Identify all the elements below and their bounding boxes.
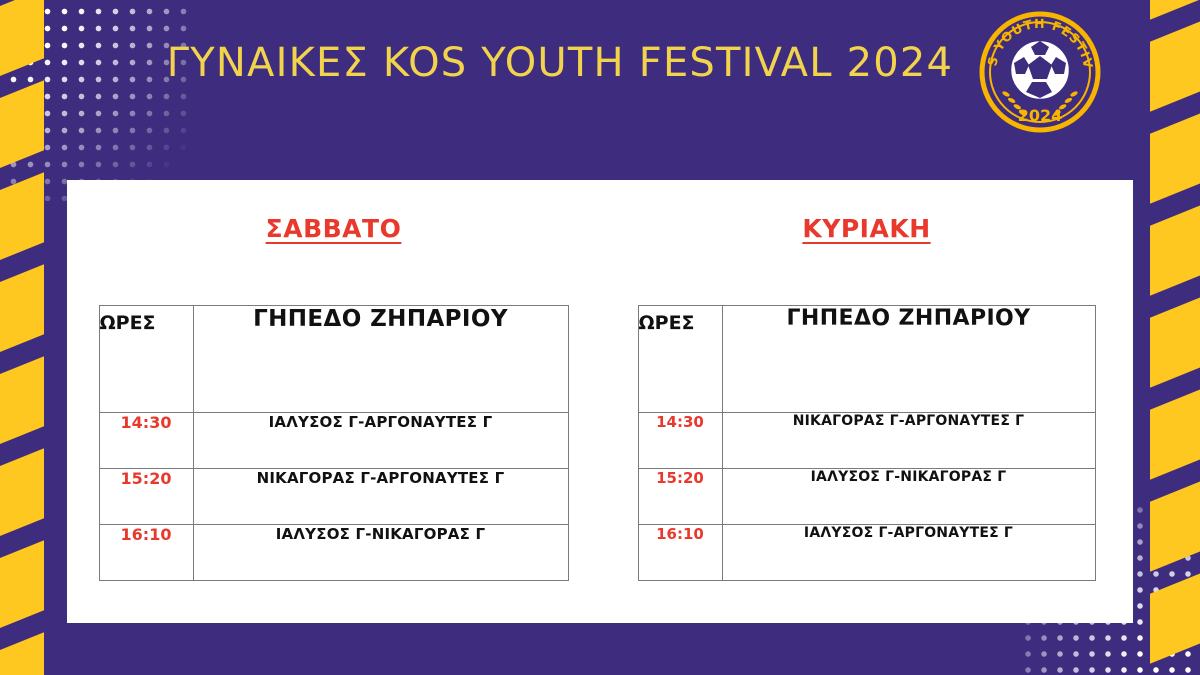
table-header-row: ΩΡΕΣ ΓΗΠΕΔΟ ΖΗΠΑΡΙΟΥ <box>638 306 1095 413</box>
match-time: 15:20 <box>99 469 193 525</box>
column-header-venue: ΓΗΠΕΔΟ ΖΗΠΑΡΙΟΥ <box>193 306 568 413</box>
header: ΓΥΝΑΙΚΕΣ KOS YOUTH FESTIVAL 2024 KOS YOU… <box>0 0 1200 176</box>
stripe <box>0 264 44 366</box>
match-teams: ΙΑΛΥΣΟΣ Γ-ΑΡΓΟΝΑΥΤΕΣ Γ <box>193 413 568 469</box>
day-heading-sunday: ΚΥΡΙΑΚΗ <box>600 214 1133 243</box>
match-time: 14:30 <box>99 413 193 469</box>
schedule-column-sunday: ΚΥΡΙΑΚΗ ΩΡΕΣ ΓΗΠΕΔΟ ΖΗΠΑΡΙΟΥ 14:30 ΝΙΚΑΓ… <box>600 180 1133 623</box>
match-teams: ΝΙΚΑΓΟΡΑΣ Γ-ΑΡΓΟΝΑΥΤΕΣ Γ <box>722 413 1095 469</box>
stripe <box>0 356 44 458</box>
table-row: 16:10 ΙΑΛΥΣΟΣ Γ-ΝΙΚΑΓΟΡΑΣ Γ <box>99 525 568 581</box>
stripe <box>1150 470 1200 572</box>
match-teams: ΙΑΛΥΣΟΣ Γ-ΝΙΚΑΓΟΡΑΣ Γ <box>193 525 568 581</box>
schedule-table-saturday: ΩΡΕΣ ΓΗΠΕΔΟ ΖΗΠΑΡΙΟΥ 14:30 ΙΑΛΥΣΟΣ Γ-ΑΡΓ… <box>99 305 569 581</box>
stripe <box>1150 562 1200 664</box>
table-header-row: ΩΡΕΣ ΓΗΠΕΔΟ ΖΗΠΑΡΙΟΥ <box>99 306 568 413</box>
match-time: 15:20 <box>638 469 722 525</box>
page-title: ΓΥΝΑΙΚΕΣ KOS YOUTH FESTIVAL 2024 <box>0 40 1120 86</box>
stripe <box>1150 194 1200 296</box>
stripe <box>1150 378 1200 480</box>
table-row: 16:10 ΙΑΛΥΣΟΣ Γ-ΑΡΓΟΝΑΥΤΕΣ Γ <box>638 525 1095 581</box>
schedule-card: ΣΑΒΒΑΤΟ ΩΡΕΣ ΓΗΠΕΔΟ ΖΗΠΑΡΙΟΥ 14:30 ΙΑΛΥΣ… <box>67 180 1133 623</box>
soccer-ball-icon <box>1010 40 1070 100</box>
table-row: 14:30 ΝΙΚΑΓΟΡΑΣ Γ-ΑΡΓΟΝΑΥΤΕΣ Γ <box>638 413 1095 469</box>
match-teams: ΝΙΚΑΓΟΡΑΣ Γ-ΑΡΓΟΝΑΥΤΕΣ Γ <box>193 469 568 525</box>
stripe <box>1150 286 1200 388</box>
column-header-hours: ΩΡΕΣ <box>638 306 722 413</box>
match-teams: ΙΑΛΥΣΟΣ Γ-ΑΡΓΟΝΑΥΤΕΣ Γ <box>722 525 1095 581</box>
schedule-table-sunday: ΩΡΕΣ ΓΗΠΕΔΟ ΖΗΠΑΡΙΟΥ 14:30 ΝΙΚΑΓΟΡΑΣ Γ-Α… <box>638 305 1096 581</box>
table-row: 14:30 ΙΑΛΥΣΟΣ Γ-ΑΡΓΟΝΑΥΤΕΣ Γ <box>99 413 568 469</box>
schedule-column-saturday: ΣΑΒΒΑΤΟ ΩΡΕΣ ΓΗΠΕΔΟ ΖΗΠΑΡΙΟΥ 14:30 ΙΑΛΥΣ… <box>67 180 600 623</box>
logo-year: 2024 <box>1018 106 1063 125</box>
match-time: 16:10 <box>99 525 193 581</box>
day-heading-saturday: ΣΑΒΒΑΤΟ <box>67 214 600 243</box>
stripe <box>0 448 44 550</box>
stripe <box>0 540 44 642</box>
match-teams: ΙΑΛΥΣΟΣ Γ-ΝΙΚΑΓΟΡΑΣ Γ <box>722 469 1095 525</box>
match-time: 14:30 <box>638 413 722 469</box>
table-row: 15:20 ΙΑΛΥΣΟΣ Γ-ΝΙΚΑΓΟΡΑΣ Γ <box>638 469 1095 525</box>
stripe <box>0 632 44 675</box>
match-time: 16:10 <box>638 525 722 581</box>
column-header-hours: ΩΡΕΣ <box>99 306 193 413</box>
column-header-venue: ΓΗΠΕΔΟ ΖΗΠΑΡΙΟΥ <box>722 306 1095 413</box>
kos-youth-festival-logo: KOS YOUTH FESTIVAL <box>976 8 1104 136</box>
table-row: 15:20 ΝΙΚΑΓΟΡΑΣ Γ-ΑΡΓΟΝΑΥΤΕΣ Γ <box>99 469 568 525</box>
stripe <box>0 172 44 274</box>
